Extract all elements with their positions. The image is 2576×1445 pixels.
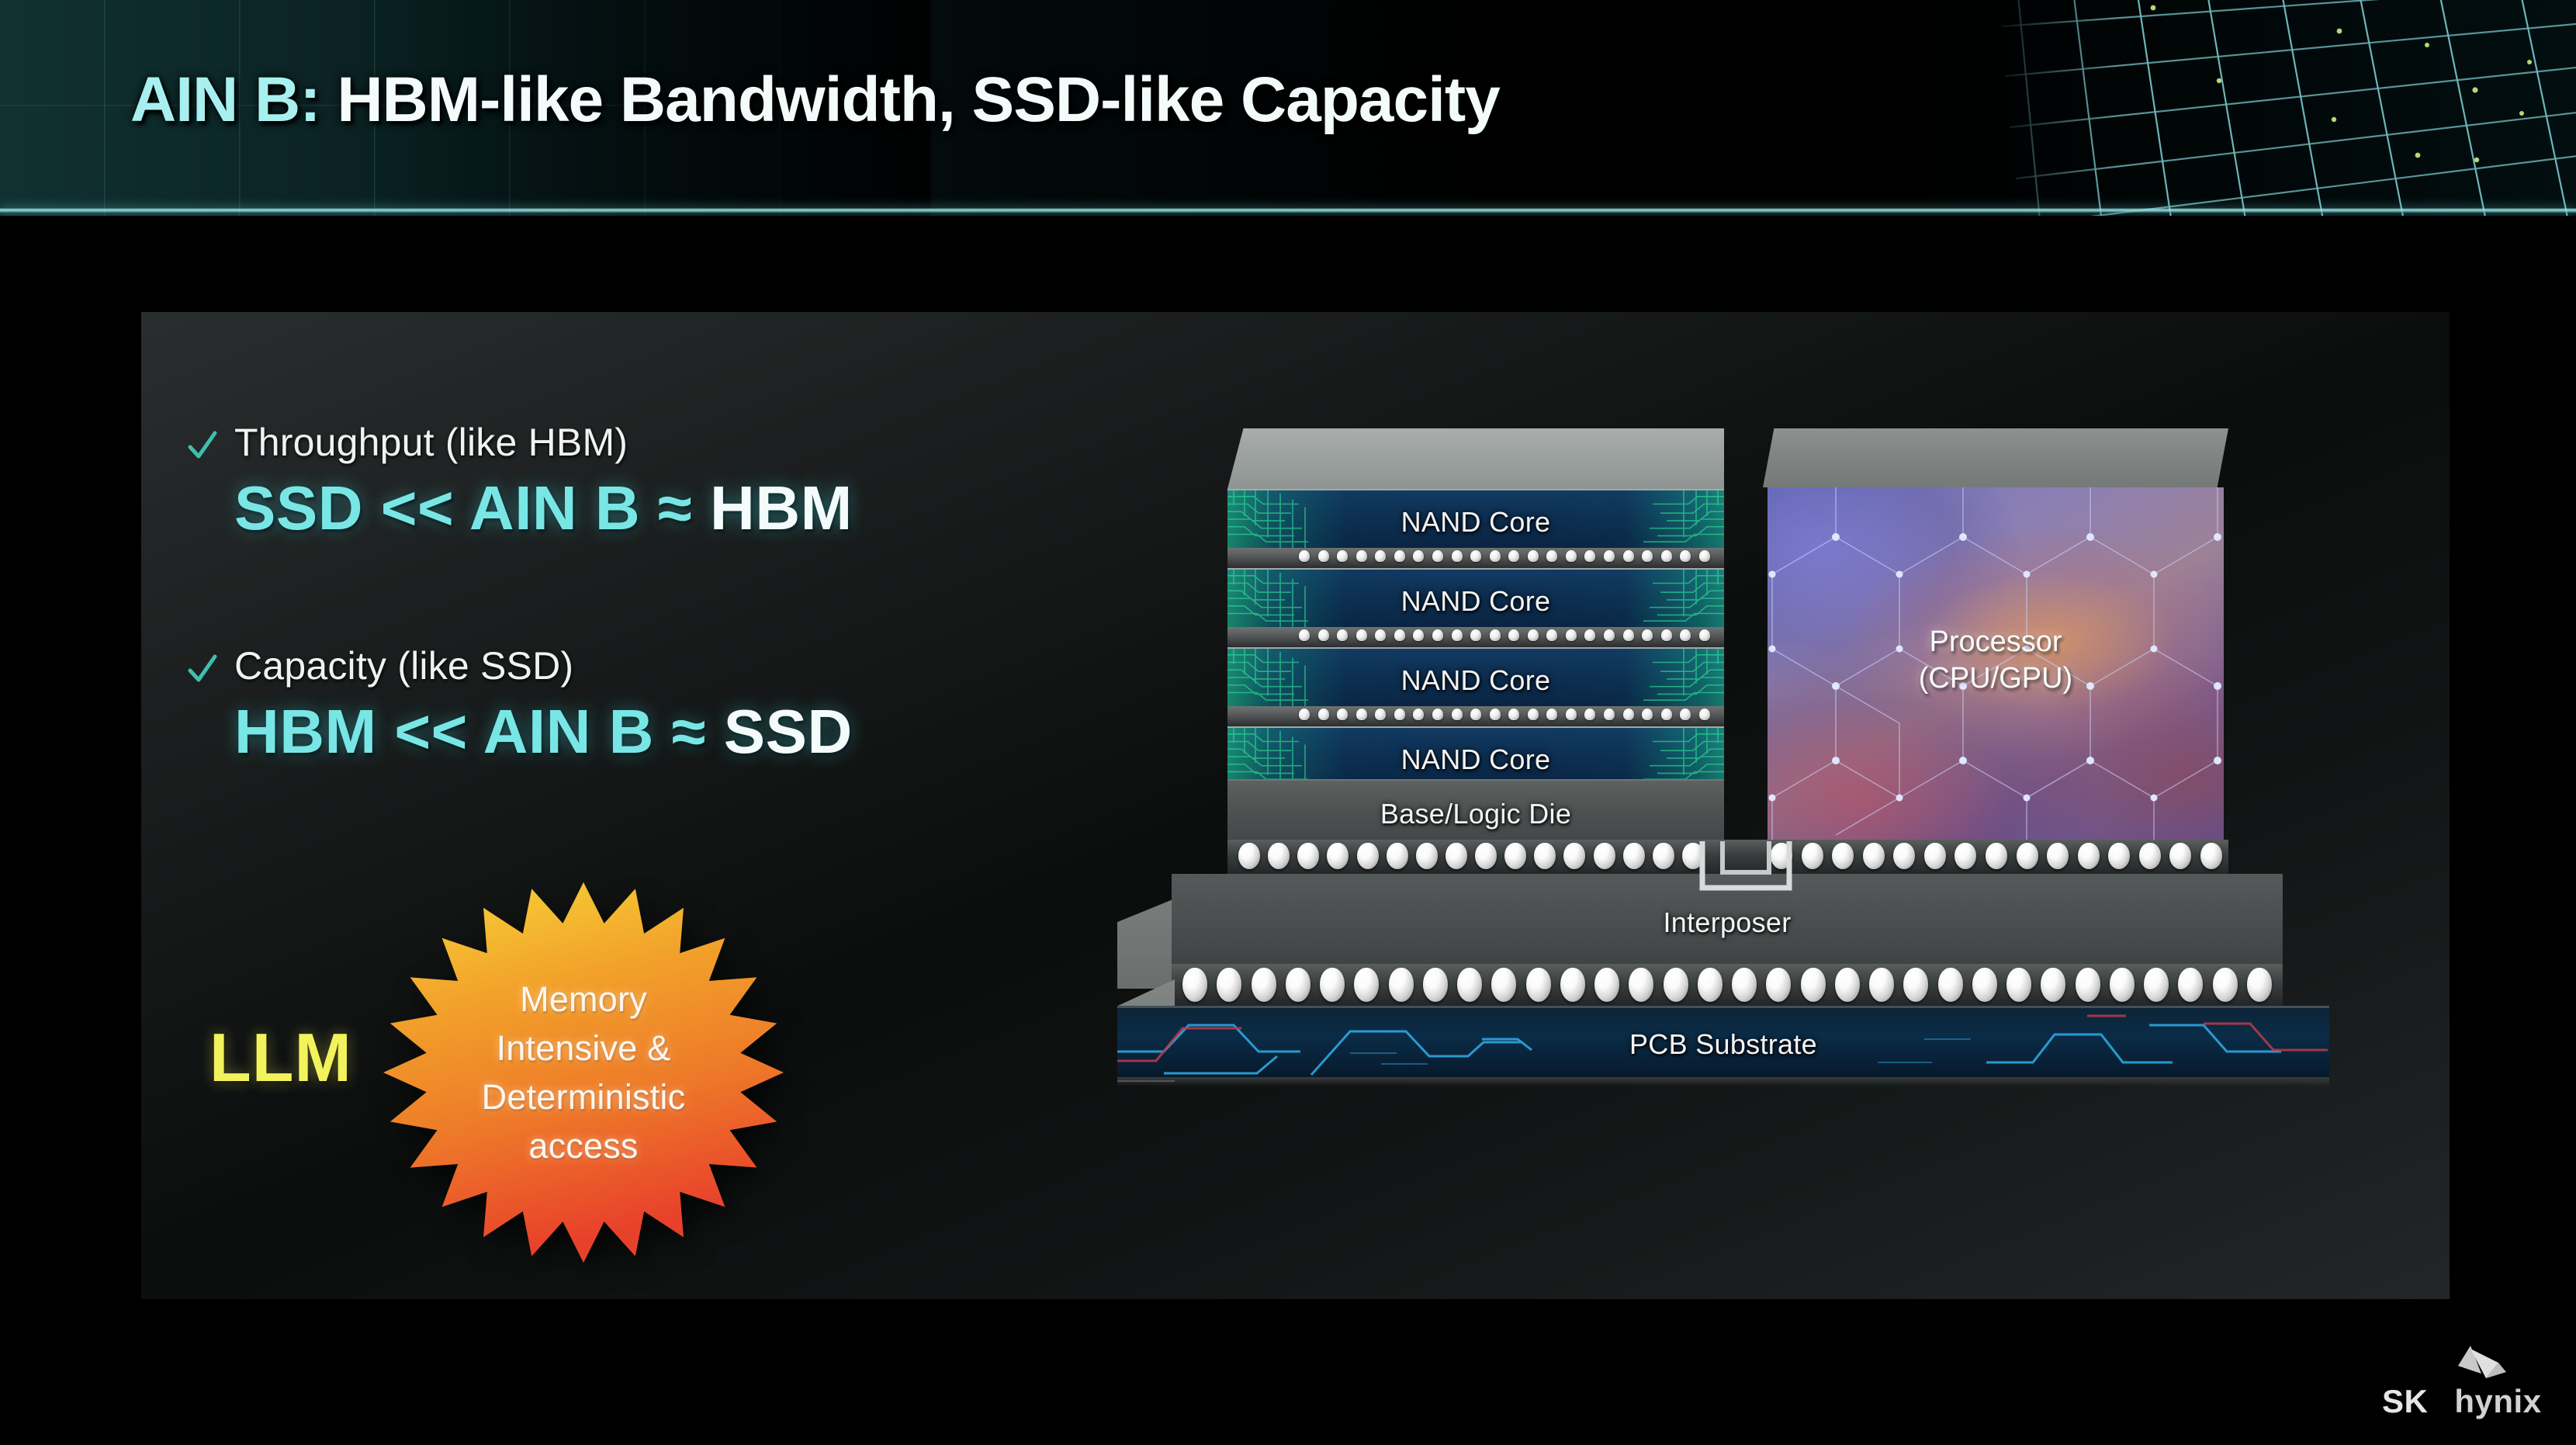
nand-top-cap	[1227, 428, 1724, 489]
microbump	[1661, 629, 1672, 641]
microbump	[1566, 629, 1577, 641]
microbump	[1642, 709, 1653, 720]
microbump	[1470, 629, 1481, 641]
microbump	[1356, 709, 1367, 720]
solder-ball	[1217, 968, 1241, 1002]
processor-label: Processor (CPU/GPU)	[1768, 624, 2224, 697]
solder-ball	[2078, 843, 2100, 869]
bullet-throughput: Throughput (like HBM) SSD << AIN B ≈ HBM	[188, 422, 853, 541]
pcb-substrate: PCB Substrate	[1117, 1006, 2329, 1080]
solder-ball	[1357, 843, 1379, 869]
bullet-row: Capacity (like SSD)	[188, 646, 853, 687]
microbump	[1337, 629, 1348, 641]
interposer: Interposer	[1172, 874, 2283, 964]
starburst-badge: Memory Intensive & Deterministic access	[382, 855, 785, 1290]
nand-stack: NAND Core	[1227, 428, 1724, 840]
microbump	[1642, 629, 1653, 641]
processor-top-cap	[1763, 428, 2228, 487]
microbump	[1356, 550, 1367, 562]
processor-die: Processor (CPU/GPU)	[1763, 428, 2228, 840]
microbump-row	[1227, 548, 1724, 568]
solder-ball	[2247, 968, 2272, 1002]
solder-ball	[1835, 968, 1860, 1002]
microbump	[1413, 709, 1424, 720]
microbump	[1546, 550, 1557, 562]
solder-ball-group-right	[1771, 843, 2222, 871]
solder-ball	[2076, 968, 2100, 1002]
wireframe-grid-icon	[1986, 0, 2576, 216]
solder-ball	[1972, 968, 1997, 1002]
microbump	[1432, 629, 1443, 641]
solder-ball	[1629, 968, 1653, 1002]
pcb-bottom-shadow	[1117, 1077, 2329, 1086]
microbump	[1680, 709, 1691, 720]
bullet-row: Throughput (like HBM)	[188, 422, 853, 463]
solder-ball	[1504, 843, 1526, 869]
microbump	[1623, 629, 1634, 641]
solder-ball	[1387, 843, 1408, 869]
check-icon	[188, 430, 217, 464]
formula-suffix: HBM	[710, 473, 853, 542]
microbump	[1604, 709, 1615, 720]
microbump	[1566, 550, 1577, 562]
check-icon	[188, 653, 217, 688]
interposer-label: Interposer	[1172, 906, 2283, 939]
solder-ball	[1801, 968, 1826, 1002]
microbump	[1490, 550, 1501, 562]
solder-ball	[1327, 843, 1349, 869]
solder-ball	[2110, 968, 2135, 1002]
solder-ball	[2017, 843, 2038, 869]
microbump	[1337, 709, 1348, 720]
solder-ball	[2047, 843, 2069, 869]
microbump	[1356, 629, 1367, 641]
solder-ball	[1560, 968, 1585, 1002]
microbump	[1604, 629, 1615, 641]
microbump	[1318, 709, 1329, 720]
microbump	[1566, 709, 1577, 720]
bullet-label: Capacity (like SSD)	[234, 646, 573, 687]
microbump	[1452, 709, 1463, 720]
solder-ball	[1286, 968, 1311, 1002]
solder-ball	[1938, 968, 1963, 1002]
microbump	[1432, 709, 1443, 720]
circuit-trace-icon	[1619, 728, 1724, 785]
microbump	[1394, 629, 1405, 641]
solder-ball	[1698, 968, 1723, 1002]
left-column: Throughput (like HBM) SSD << AIN B ≈ HBM…	[188, 374, 1150, 1251]
interposer-solder-ball-row	[1172, 964, 2283, 1006]
microbump	[1546, 629, 1557, 641]
microbump	[1375, 550, 1386, 562]
microbump	[1699, 550, 1710, 562]
microbump	[1413, 629, 1424, 641]
microbump	[1490, 709, 1501, 720]
microbump	[1584, 550, 1595, 562]
microbump	[1470, 709, 1481, 720]
microbump	[1432, 550, 1443, 562]
solder-ball	[1446, 843, 1467, 869]
circuit-trace-icon	[1619, 490, 1724, 548]
content-panel: Throughput (like HBM) SSD << AIN B ≈ HBM…	[141, 312, 2450, 1299]
solder-ball	[2139, 843, 2161, 869]
sk-hynix-wordmark: SKhynix	[2382, 1383, 2542, 1420]
microbump	[1661, 550, 1672, 562]
solder-ball	[1986, 843, 2007, 869]
microbump	[1528, 550, 1539, 562]
microbump	[1584, 629, 1595, 641]
solder-ball-group-left	[1238, 843, 1704, 871]
base-logic-die-label: Base/Logic Die	[1227, 798, 1724, 830]
sk-hynix-logo: SKhynix	[2376, 1341, 2539, 1426]
microbump	[1375, 709, 1386, 720]
solder-ball	[1268, 843, 1290, 869]
microbump	[1699, 629, 1710, 641]
header-divider	[0, 208, 2576, 213]
solder-ball	[1664, 968, 1688, 1002]
solder-ball	[1457, 968, 1482, 1002]
logo-sk-text: SK	[2382, 1383, 2428, 1419]
solder-ball	[1653, 843, 1674, 869]
solder-ball-group-bottom	[1182, 968, 2272, 1002]
circuit-trace-icon	[1227, 490, 1332, 548]
nand-core-layer: NAND Core	[1227, 726, 1724, 785]
solder-ball	[1320, 968, 1345, 1002]
solder-ball	[2200, 843, 2222, 869]
solder-ball	[1594, 843, 1615, 869]
microbump	[1508, 709, 1519, 720]
microbump	[1680, 550, 1691, 562]
solder-ball	[1252, 968, 1276, 1002]
circuit-trace-icon	[1619, 570, 1724, 627]
microbump	[1452, 629, 1463, 641]
formula-prefix: HBM << AIN B ≈	[234, 697, 724, 766]
processor-face: Processor (CPU/GPU)	[1768, 487, 2224, 840]
microbump	[1508, 629, 1519, 641]
page-title-highlight: AIN B:	[130, 64, 320, 135]
bullet-label: Throughput (like HBM)	[234, 422, 628, 463]
microbump	[1452, 550, 1463, 562]
solder-ball	[2169, 843, 2191, 869]
logo-hynix-text: hynix	[2454, 1383, 2541, 1419]
processor-label-line2: (CPU/GPU)	[1768, 660, 2224, 697]
solder-ball	[1354, 968, 1379, 1002]
solder-ball	[2006, 968, 2031, 1002]
circuit-trace-icon	[1227, 570, 1332, 627]
microbump	[1337, 550, 1348, 562]
microbump-row	[1227, 706, 1724, 726]
microbump	[1699, 709, 1710, 720]
solder-ball	[2213, 968, 2238, 1002]
solder-ball	[1955, 843, 1976, 869]
bullet-capacity: Capacity (like SSD) HBM << AIN B ≈ SSD	[188, 646, 853, 764]
microbump	[1528, 629, 1539, 641]
base-logic-die: Base/Logic Die	[1227, 779, 1724, 840]
solder-ball	[2144, 968, 2169, 1002]
package-cross-section-diagram: NAND Core	[1165, 405, 2407, 1235]
microbump	[1299, 629, 1310, 641]
solder-ball	[1869, 968, 1894, 1002]
bullet-formula: SSD << AIN B ≈ HBM	[234, 476, 853, 541]
microbump	[1470, 550, 1481, 562]
solder-ball	[1863, 843, 1885, 869]
solder-ball	[2041, 968, 2065, 1002]
solder-ball	[1732, 968, 1757, 1002]
microbump	[1394, 709, 1405, 720]
microbump	[1375, 629, 1386, 641]
microbump	[1584, 709, 1595, 720]
page-title: AIN B: HBM-like Bandwidth, SSD-like Capa…	[130, 64, 1500, 137]
page-title-rest: HBM-like Bandwidth, SSD-like Capacity	[320, 64, 1500, 135]
solder-ball	[1832, 843, 1854, 869]
microbump	[1661, 709, 1672, 720]
microbump	[1318, 629, 1329, 641]
solder-ball	[1893, 843, 1915, 869]
microbump	[1642, 550, 1653, 562]
microbump-row	[1227, 627, 1724, 647]
nand-core-layer: NAND Core	[1227, 647, 1724, 706]
formula-prefix: SSD << AIN B ≈	[234, 473, 710, 542]
nand-core-layer: NAND Core	[1227, 489, 1724, 548]
microbump	[1604, 550, 1615, 562]
solder-ball	[2178, 968, 2203, 1002]
microbump	[1528, 709, 1539, 720]
solder-ball	[1924, 843, 1946, 869]
solder-ball	[1389, 968, 1414, 1002]
microbump	[1546, 709, 1557, 720]
solder-ball	[1594, 968, 1619, 1002]
solder-ball	[1416, 843, 1438, 869]
solder-ball	[1182, 968, 1207, 1002]
circuit-trace-icon	[1227, 728, 1332, 785]
solder-ball	[1766, 968, 1791, 1002]
solder-ball	[1238, 843, 1260, 869]
microbump	[1680, 629, 1691, 641]
connector-trace-icon	[1696, 841, 1795, 896]
processor-label-line1: Processor	[1768, 624, 2224, 660]
solder-ball	[1297, 843, 1319, 869]
microbump	[1299, 709, 1310, 720]
solder-ball	[1526, 968, 1551, 1002]
solder-ball	[1623, 843, 1645, 869]
solder-ball	[1491, 968, 1516, 1002]
microbump	[1413, 550, 1424, 562]
solder-ball	[1423, 968, 1448, 1002]
solder-ball	[1534, 843, 1556, 869]
circuit-trace-icon	[1619, 649, 1724, 706]
solder-ball	[1475, 843, 1497, 869]
bullet-formula: HBM << AIN B ≈ SSD	[234, 699, 853, 764]
slide-header: AIN B: HBM-like Bandwidth, SSD-like Capa…	[0, 0, 2576, 216]
solder-ball	[2108, 843, 2130, 869]
solder-ball	[1903, 968, 1928, 1002]
microbump	[1394, 550, 1405, 562]
nand-core-layer: NAND Core	[1227, 568, 1724, 627]
circuit-trace-icon	[1227, 649, 1332, 706]
formula-suffix: SSD	[724, 697, 853, 766]
microbump	[1508, 550, 1519, 562]
microbump	[1623, 709, 1634, 720]
solder-ball	[1802, 843, 1823, 869]
solder-ball	[1563, 843, 1585, 869]
llm-label: LLM	[209, 1018, 352, 1097]
microbump	[1318, 550, 1329, 562]
microbump	[1623, 550, 1634, 562]
pcb-trace-icon	[1117, 1008, 2329, 1080]
microbump	[1299, 550, 1310, 562]
microbump	[1490, 629, 1501, 641]
